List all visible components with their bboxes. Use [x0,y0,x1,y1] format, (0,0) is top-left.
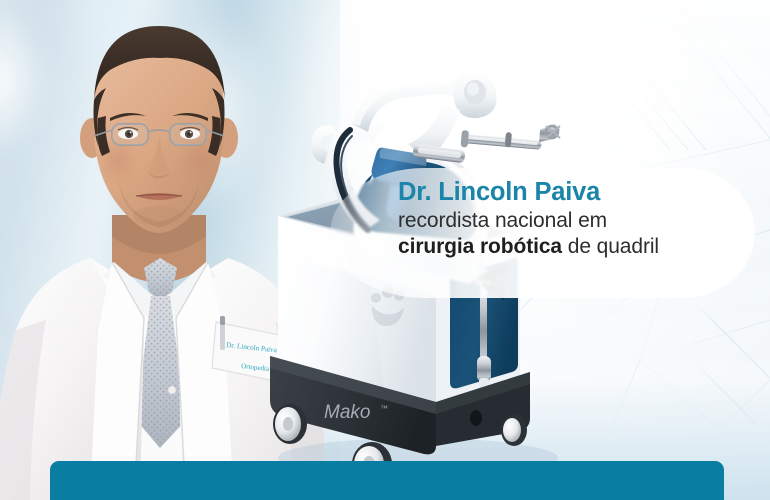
bottom-blue-bar[interactable] [50,461,724,500]
headline-line-2: recordista nacional em [398,208,738,233]
headline-line-3-rest: de quadril [562,235,659,258]
banner: Dr. Lincoln Paiva Cruz Ortopedia [0,0,770,500]
headline-line-3-bold: cirurgia robótica [398,235,562,258]
headline-line-3: cirurgia robótica de quadril [398,234,738,260]
headline-text-block: Dr. Lincoln Paiva recordista nacional em… [398,178,738,260]
mako-logo-text: Mako [324,402,370,423]
mako-trademark: ™ [380,404,388,413]
doctor-name: Dr. Lincoln Paiva [398,178,738,207]
